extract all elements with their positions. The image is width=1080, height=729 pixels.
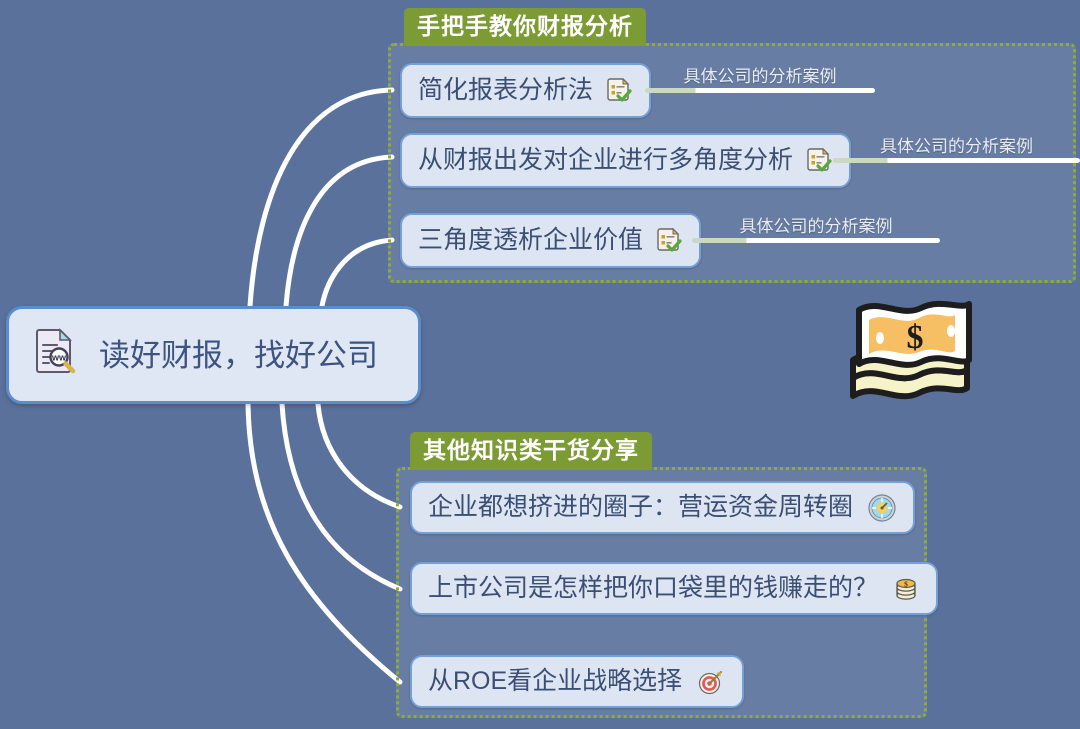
group-title-financial-report-analysis: 手把手教你财报分析 <box>404 8 646 46</box>
banknotes-icon: $ <box>845 296 975 416</box>
topic-node-3-label: 三角度透析企业价值 <box>418 228 643 253</box>
topic-node-2[interactable]: 从财报出发对企业进行多角度分析 <box>400 133 851 188</box>
subbranch-2[interactable]: 具体公司的分析案例 <box>833 130 1080 163</box>
subbranch-1[interactable]: 具体公司的分析案例 <box>645 60 875 93</box>
svg-text:$: $ <box>907 319 924 356</box>
target-dart-icon <box>696 667 726 697</box>
subbranch-3[interactable]: 具体公司的分析案例 <box>692 210 940 243</box>
svg-text:ww: ww <box>51 352 67 362</box>
subbranch-1-line <box>645 88 875 93</box>
checklist-document-icon <box>807 147 833 175</box>
subbranch-1-label: 具体公司的分析案例 <box>645 68 875 85</box>
subbranch-3-line <box>692 238 940 243</box>
document-magnifier-icon: ww <box>35 327 77 383</box>
central-node-label: 读好财报，找好公司 <box>99 340 378 371</box>
coins-stack-icon: $ <box>892 575 920 603</box>
topic-node-1-label: 简化报表分析法 <box>418 78 593 103</box>
group-title-other-knowledge: 其他知识类干货分享 <box>410 432 652 470</box>
compass-clock-icon <box>867 493 897 523</box>
svg-text:$: $ <box>904 579 908 588</box>
topic-node-6[interactable]: 从ROE看企业战略选择 <box>410 655 744 708</box>
topic-node-5[interactable]: 上市公司是怎样把你口袋里的钱赚走的？ $ <box>410 562 938 615</box>
topic-node-6-label: 从ROE看企业战略选择 <box>428 669 682 694</box>
topic-node-1[interactable]: 简化报表分析法 <box>400 63 651 118</box>
subbranch-2-label: 具体公司的分析案例 <box>833 138 1080 155</box>
topic-node-4-label: 企业都想挤进的圈子：营运资金周转圈 <box>428 495 853 520</box>
subbranch-3-label: 具体公司的分析案例 <box>692 218 940 235</box>
checklist-document-icon <box>607 77 633 105</box>
central-node[interactable]: ww 读好财报，找好公司 <box>6 306 421 404</box>
topic-node-4[interactable]: 企业都想挤进的圈子：营运资金周转圈 <box>410 481 915 534</box>
mindmap-canvas: 手把手教你财报分析 简化报表分析法 从财报出发对企业进行多角度分析 <box>0 0 1080 729</box>
topic-node-3[interactable]: 三角度透析企业价值 <box>400 213 701 268</box>
subbranch-2-line <box>833 158 1080 163</box>
topic-node-5-label: 上市公司是怎样把你口袋里的钱赚走的？ <box>428 576 878 601</box>
checklist-document-icon <box>657 227 683 255</box>
topic-node-2-label: 从财报出发对企业进行多角度分析 <box>418 148 793 173</box>
